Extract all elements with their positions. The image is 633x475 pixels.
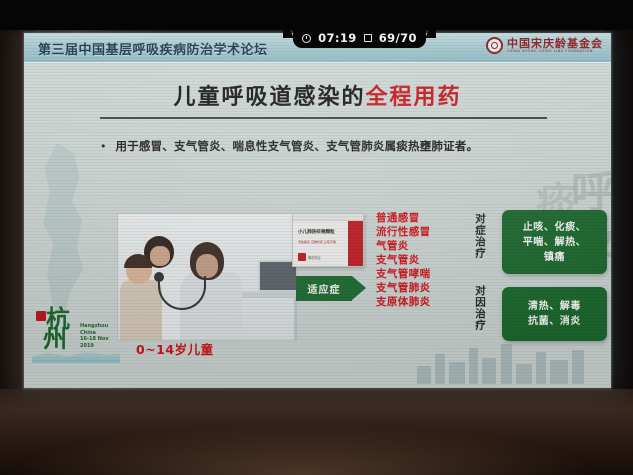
list-item: 支原体肺炎 bbox=[376, 295, 431, 309]
photo-doctor-face bbox=[196, 254, 218, 278]
title-divider bbox=[100, 117, 547, 119]
foundation-logo-icon bbox=[486, 37, 503, 54]
hangzhou-en-city: Hangzhou bbox=[80, 323, 109, 330]
list-item: 气管炎 bbox=[376, 239, 431, 253]
list-item: 支气管哮喘 bbox=[376, 267, 431, 281]
medicine-box-logo-icon bbox=[298, 253, 306, 261]
hangzhou-seal-icon bbox=[36, 311, 46, 321]
foundation-logo-cn: 中国宋庆龄基金会 bbox=[507, 38, 603, 49]
medicine-box: 小儿肺热咳喘颗粒 清热解毒 宣肺化痰 止咳平喘 葵花药业 bbox=[292, 213, 364, 267]
skyline-graphic bbox=[413, 336, 593, 384]
slide-counter-icon bbox=[364, 34, 372, 42]
photo-stethoscope-chestpiece bbox=[154, 272, 164, 282]
indication-bullet: • 用于感冒、支气管炎、喘息性支气管炎、支气管肺炎属痰热壅肺证者。 bbox=[100, 139, 563, 154]
clinic-photo bbox=[117, 213, 297, 341]
effect-line: 抗菌、消炎 bbox=[528, 314, 581, 329]
treatment-label-causal: 对因治疗 bbox=[474, 285, 485, 331]
foundation-logo-en: CHINA SOONG CHING LING FOUNDATION bbox=[507, 50, 603, 53]
slide-title: 儿童呼吸道感染的全程用药 bbox=[24, 79, 611, 111]
hangzhou-logo-cn: 杭 州 bbox=[46, 309, 69, 349]
age-range-label: 0~14岁儿童 bbox=[136, 339, 214, 358]
slide-title-highlight: 全程用药 bbox=[366, 85, 462, 110]
list-item: 流行性感冒 bbox=[376, 225, 431, 239]
clock-icon bbox=[302, 34, 311, 43]
list-item: 支气管炎 bbox=[376, 253, 431, 267]
indications-arrow-head bbox=[352, 276, 366, 300]
floor-light-glow bbox=[0, 389, 633, 475]
hangzhou-en-dates: 16-18 Nov bbox=[80, 336, 109, 343]
foundation-logo: 中国宋庆龄基金会 CHINA SOONG CHING LING FOUNDATI… bbox=[486, 37, 603, 54]
indications-arrow-tag: 适应症 bbox=[296, 276, 352, 301]
hangzhou-logo-en: Hangzhou China 16-18 Nov 2019 bbox=[80, 323, 109, 349]
hangzhou-char-2: 州 bbox=[43, 329, 69, 349]
bullet-marker: • bbox=[100, 139, 107, 154]
symptomatic-effects-box: 止咳、化痰、 平喘、解热、 镇痛 bbox=[502, 210, 607, 274]
hangzhou-en-year: 2019 bbox=[80, 343, 109, 350]
causal-effects-text: 清热、解毒 抗菌、消炎 bbox=[528, 299, 581, 329]
slide-body: 呼吸 痰热 儿童呼吸道感染的全程用药 • 用于感冒、支气管炎、喘息性支气管炎、支… bbox=[24, 63, 611, 388]
indications-arrow-label: 适应症 bbox=[308, 281, 341, 296]
effect-line: 镇痛 bbox=[523, 250, 587, 265]
causal-effects-box: 清热、解毒 抗菌、消炎 bbox=[502, 287, 607, 341]
slide-title-plain: 儿童呼吸道感染的 bbox=[173, 85, 365, 110]
conference-title: 第三届中国基层呼吸疾病防治学术论坛 bbox=[38, 39, 268, 58]
hangzhou-event-logo: 杭 州 Hangzhou China 16-18 Nov 2019 bbox=[32, 305, 120, 363]
photo-desk-leg bbox=[294, 298, 297, 340]
osd-slide-counter: 69/70 bbox=[379, 31, 417, 45]
list-item: 普通感冒 bbox=[376, 211, 431, 225]
treatment-label-symptomatic: 对症治疗 bbox=[474, 213, 485, 259]
bullet-text: 用于感冒、支气管炎、喘息性支气管炎、支气管肺炎属痰热壅肺证者。 bbox=[116, 139, 479, 154]
medicine-box-brand: 葵花药业 bbox=[308, 255, 321, 260]
osd-top-black-bar bbox=[0, 0, 633, 30]
medicine-box-product-name: 小儿肺热咳喘颗粒 bbox=[298, 230, 345, 236]
osd-status-bar: 07:19 69/70 bbox=[293, 28, 426, 48]
medicine-box-red-band bbox=[348, 221, 363, 266]
map-silhouette bbox=[36, 143, 98, 318]
medicine-box-top-flap bbox=[293, 214, 363, 221]
effect-line: 止咳、化痰、 bbox=[523, 220, 587, 235]
osd-time: 07:19 bbox=[318, 31, 357, 45]
effect-line: 平喘、解热、 bbox=[523, 235, 587, 250]
indications-list: 普通感冒 流行性感冒 气管炎 支气管炎 支气管哮喘 支气管肺炎 支原体肺炎 bbox=[376, 211, 431, 309]
photo-parent-face bbox=[150, 246, 170, 266]
list-item: 支气管肺炎 bbox=[376, 281, 431, 295]
projection-screen: 第三届中国基层呼吸疾病防治学术论坛 中国宋庆龄基金会 CHINA SOONG C… bbox=[24, 33, 611, 388]
conference-room-photo: 第三届中国基层呼吸疾病防治学术论坛 中国宋庆龄基金会 CHINA SOONG C… bbox=[0, 0, 633, 475]
photo-child-body bbox=[120, 280, 162, 341]
symptomatic-effects-text: 止咳、化痰、 平喘、解热、 镇痛 bbox=[523, 220, 587, 265]
medicine-box-subtitle: 清热解毒 宣肺化痰 止咳平喘 bbox=[298, 241, 345, 245]
effect-line: 清热、解毒 bbox=[528, 299, 581, 314]
